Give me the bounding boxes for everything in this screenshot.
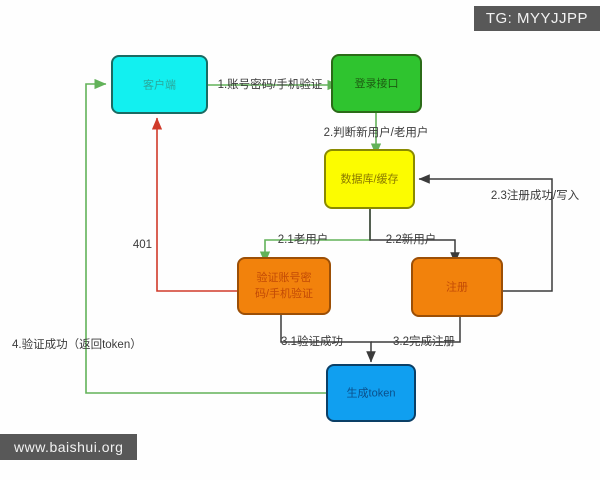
node-verify-credentials-label-line2: 码/手机验证 bbox=[255, 286, 313, 300]
flowchart-svg: 1.账号密码/手机验证 2.判断新用户/老用户 2.1老用户 2.2新用户 2.… bbox=[0, 0, 600, 480]
node-generate-token-label: 生成token bbox=[347, 385, 396, 399]
site-watermark: www.baishui.org bbox=[0, 434, 137, 460]
edge-4-label: 4.验证成功（返回token） bbox=[12, 337, 142, 351]
node-login-api[interactable]: 登录接口 bbox=[332, 55, 421, 112]
edge-32-register-complete: 3.2完成注册 bbox=[371, 316, 460, 348]
edge-2-judge-user: 2.判断新用户/老用户 bbox=[324, 112, 429, 155]
node-client-label: 客户端 bbox=[143, 77, 176, 91]
edge-31-label: 3.1验证成功 bbox=[281, 334, 343, 348]
edge-22-new-user: 2.2新用户 bbox=[370, 208, 455, 263]
edge-401-line bbox=[157, 118, 238, 291]
edge-21-label: 2.1老用户 bbox=[278, 232, 329, 246]
edge-22-label: 2.2新用户 bbox=[386, 232, 437, 246]
edge-401-unauthorized: 401 bbox=[133, 118, 238, 291]
edge-23-label: 2.3注册成功/写入 bbox=[491, 188, 580, 202]
diagram-canvas: 1.账号密码/手机验证 2.判断新用户/老用户 2.1老用户 2.2新用户 2.… bbox=[0, 0, 600, 480]
node-register[interactable]: 注册 bbox=[412, 258, 502, 316]
node-database-cache[interactable]: 数据库/缓存 bbox=[325, 150, 414, 208]
edge-1-credentials: 1.账号密码/手机验证 bbox=[207, 77, 339, 91]
edge-32-label: 3.2完成注册 bbox=[393, 334, 455, 348]
edge-21-old-user: 2.1老用户 bbox=[265, 208, 370, 263]
node-verify-credentials-label-line1: 验证账号密 bbox=[257, 270, 312, 284]
edge-1-label: 1.账号密码/手机验证 bbox=[218, 77, 323, 91]
edge-401-label: 401 bbox=[133, 239, 152, 251]
node-login-api-label: 登录接口 bbox=[355, 76, 399, 90]
node-client[interactable]: 客户端 bbox=[112, 56, 207, 113]
edge-31-verify-success: 3.1验证成功 bbox=[281, 314, 371, 362]
node-generate-token[interactable]: 生成token bbox=[327, 365, 415, 421]
edge-2-label: 2.判断新用户/老用户 bbox=[324, 125, 429, 139]
node-verify-credentials-box[interactable] bbox=[238, 258, 330, 314]
node-register-label: 注册 bbox=[446, 279, 468, 293]
node-database-cache-label: 数据库/缓存 bbox=[340, 171, 398, 185]
telegram-watermark: TG: MYYJJPP bbox=[474, 6, 600, 31]
node-verify-credentials[interactable]: 验证账号密 码/手机验证 bbox=[238, 258, 330, 314]
